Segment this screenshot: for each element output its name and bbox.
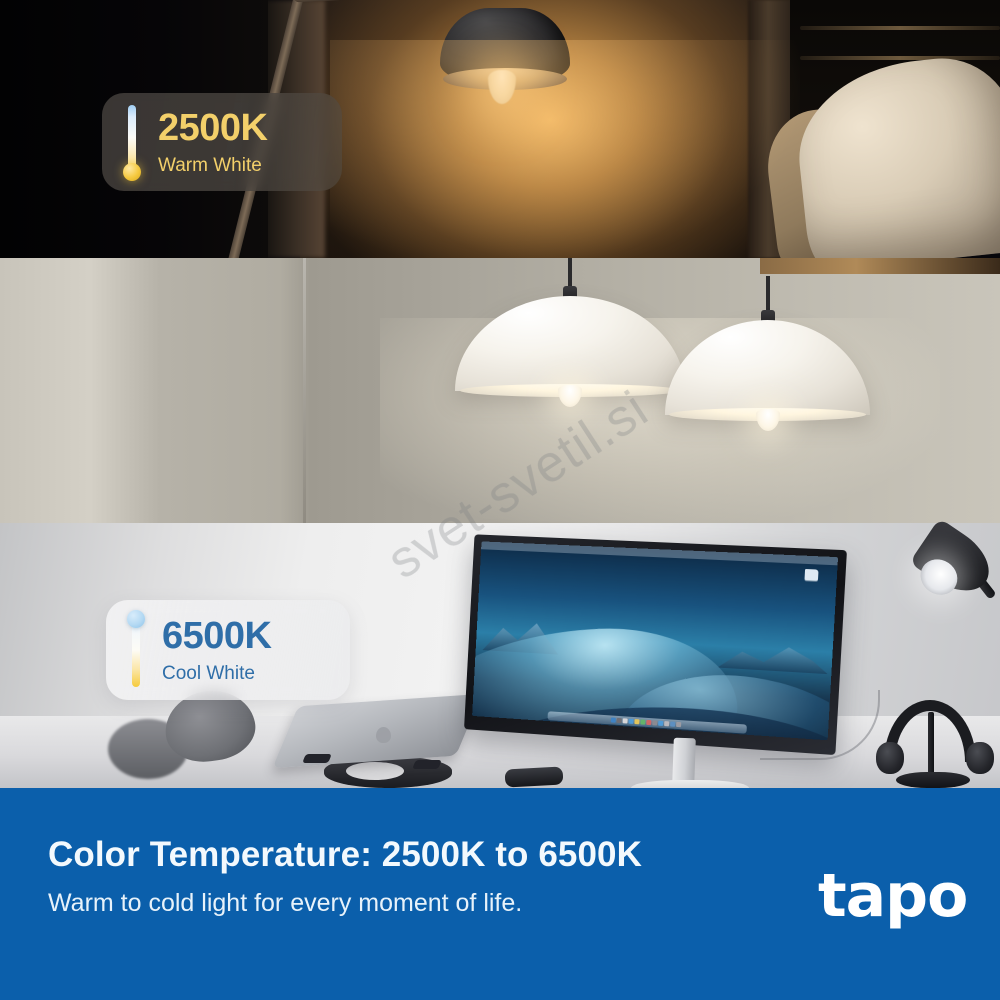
headboard-slat [800,26,1000,30]
pendant-dome-shade [665,320,870,415]
temperature-card-cool-white[interactable]: 6500K Cool White [106,600,350,700]
temperature-slider-icon [128,613,144,687]
dock-icon[interactable] [640,719,645,724]
dock-icon[interactable] [623,718,628,723]
mouse-device [505,766,564,787]
apple-logo-icon [376,727,391,743]
pendant-lamp-right [665,276,870,436]
dock-icon[interactable] [670,721,675,726]
temperature-card-warm-white[interactable]: 2500K Warm White [102,93,342,191]
wood-shelf-edge [760,258,1000,274]
dock-icon[interactable] [664,721,669,726]
light-bulb-icon [558,385,582,407]
laptop-stand-inner [346,762,404,780]
panel-warm-white: 2500K Warm White [0,0,1000,258]
dock-icon[interactable] [676,722,681,727]
banner-subtitle: Warm to cold light for every moment of l… [48,889,522,918]
temperature-card-text: 6500K Cool White [162,617,271,683]
kelvin-value: 2500K [158,109,267,147]
laptop-foot [302,754,332,763]
dock-icon[interactable] [646,720,651,725]
wallpaper-mountain-right [717,639,829,674]
tapo-logo: tapo [818,866,967,926]
dock-icon[interactable] [634,719,639,724]
headphone-earcup [876,742,904,774]
dock-icon[interactable] [628,719,633,724]
slider-knob[interactable] [123,163,141,181]
dock-icon[interactable] [652,720,657,725]
dock-icon[interactable] [658,721,663,726]
kelvin-value: 6500K [162,617,271,655]
folder-icon[interactable] [805,568,819,580]
temperature-name: Cool White [162,664,271,683]
temperature-card-text: 2500K Warm White [158,109,267,175]
temperature-slider-icon [124,105,140,179]
temperature-name: Warm White [158,156,267,175]
pendant-dome-shade [455,296,685,391]
product-feature-image: 2500K Warm White [0,0,1000,1000]
dock-icon[interactable] [617,718,622,723]
pendant-lamp-left [455,258,685,422]
panel-daylight: 4000K Daylight [0,258,1000,523]
dock-icon[interactable] [611,717,616,722]
banner-title: Color Temperature: 2500K to 6500K [48,835,642,875]
headphone-earcup [966,742,994,774]
wall-corner-seam [303,258,306,523]
headboard-slat [800,56,1000,60]
slider-knob[interactable] [127,610,145,628]
light-bulb-icon [756,409,780,431]
headphone-stand-base [896,772,970,788]
laptop-foot [412,760,442,769]
